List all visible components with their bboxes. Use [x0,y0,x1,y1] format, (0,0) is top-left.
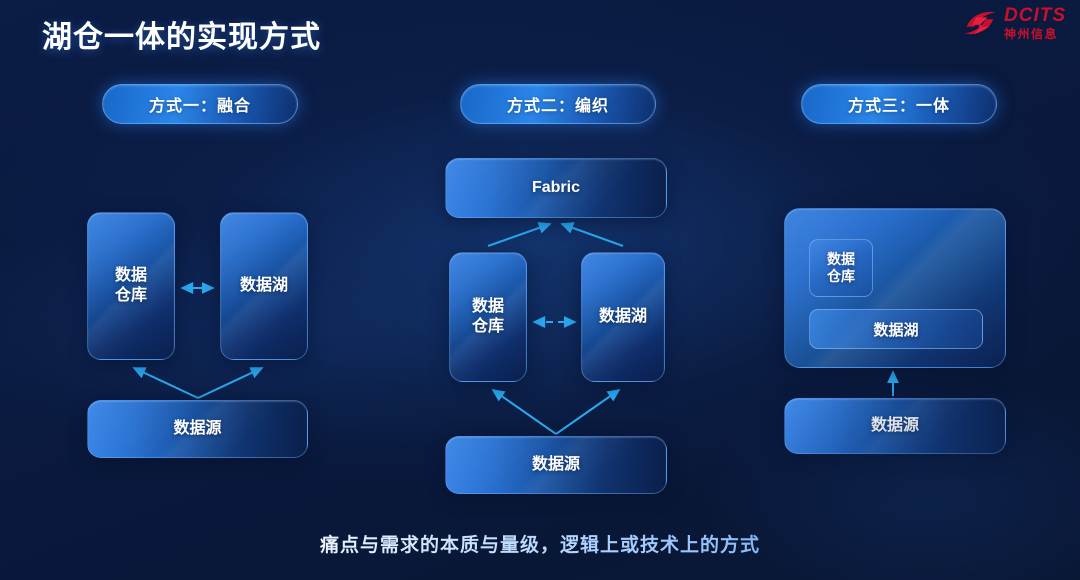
c3-node-source[interactable]: 数据源 [784,398,1006,454]
c1-warehouse-label-line1: 数据 [115,267,147,284]
c3-warehouse-label-line1: 数据 [827,251,855,267]
c3-node-lakehouse-container[interactable]: 数据 仓库 数据湖 [784,208,1006,368]
c2-arrow-warehouse-to-fabric [488,224,550,246]
slide-caption: 痛点与需求的本质与量级，逻辑上或技术上的方式 [0,530,1080,557]
c2-node-lake[interactable]: 数据湖 [581,252,665,382]
dcits-swoosh-icon [961,6,999,40]
c3-node-lake[interactable]: 数据湖 [809,309,983,349]
logo-brand-cn: 神州信息 [1004,28,1066,40]
c1-node-warehouse[interactable]: 数据 仓库 [87,212,175,360]
slide-canvas: 湖仓一体的实现方式 DCITS 神州信息 方式一：融合 方式二：编织 方式三：一… [0,0,1080,580]
c2-node-warehouse[interactable]: 数据 仓库 [449,252,527,382]
c2-warehouse-label: 数据 仓库 [472,297,504,337]
c2-arrow-source-to-lake [556,390,619,434]
c2-arrow-lake-to-fabric [562,224,623,246]
method-pill-3[interactable]: 方式三：一体 [801,84,997,124]
c2-node-source[interactable]: 数据源 [445,436,667,494]
method-pill-2[interactable]: 方式二：编织 [460,84,656,124]
method-pill-1[interactable]: 方式一：融合 [102,84,298,124]
c2-warehouse-label-line1: 数据 [472,298,504,315]
company-logo: DCITS 神州信息 [961,6,1066,40]
page-title: 湖仓一体的实现方式 [42,12,321,56]
c2-node-fabric[interactable]: Fabric [445,158,667,218]
logo-brand-en: DCITS [1004,6,1066,25]
c2-warehouse-label-line2: 仓库 [472,318,504,335]
c1-node-source[interactable]: 数据源 [87,400,308,458]
c3-node-warehouse[interactable]: 数据 仓库 [809,239,873,297]
c1-arrow-source-to-warehouse [134,368,198,398]
c3-warehouse-label-line2: 仓库 [827,268,855,284]
c1-node-lake[interactable]: 数据湖 [220,212,308,360]
c1-arrow-source-to-lake [198,368,262,398]
c2-arrow-source-to-warehouse [493,390,556,434]
c1-warehouse-label: 数据 仓库 [115,266,147,306]
c1-warehouse-label-line2: 仓库 [115,287,147,304]
c3-warehouse-label: 数据 仓库 [827,251,855,286]
